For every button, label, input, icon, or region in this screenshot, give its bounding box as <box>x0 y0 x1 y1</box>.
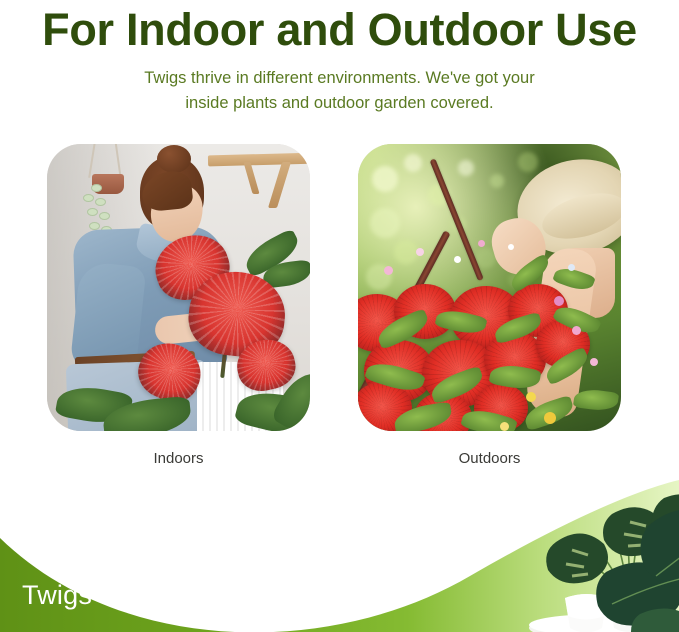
bokeh-highlight <box>404 154 422 172</box>
hair-bun <box>157 145 191 173</box>
garden-flower-dot <box>478 240 485 247</box>
garden-flower-dot <box>454 256 461 263</box>
product-feature-page: For Indoor and Outdoor Use Twigs thrive … <box>0 0 679 632</box>
bokeh-highlight <box>394 240 418 264</box>
card-outdoors[interactable]: Outdoors <box>358 144 621 431</box>
garden-flower-dot <box>572 326 581 335</box>
bokeh-highlight <box>458 160 474 176</box>
garden-flower-dot <box>416 248 424 256</box>
page-subtitle: Twigs thrive in different environments. … <box>125 66 555 116</box>
garden-flower-dot <box>384 266 393 275</box>
card-caption-indoors: Indoors <box>47 450 310 467</box>
bokeh-highlight <box>518 152 538 172</box>
garden-flower-dot <box>526 392 536 402</box>
garden-flower-dot <box>500 422 509 431</box>
star-icon: ✦ <box>54 575 63 586</box>
garden-flower-dot <box>590 358 598 366</box>
bokeh-highlight <box>370 208 400 238</box>
page-title: For Indoor and Outdoor Use <box>0 0 679 56</box>
bokeh-highlight <box>372 166 398 192</box>
header: For Indoor and Outdoor Use Twigs thrive … <box>0 0 679 116</box>
indoor-photo[interactable] <box>47 144 310 431</box>
outdoor-photo[interactable] <box>358 144 621 431</box>
garden-flower-dot <box>544 412 556 424</box>
card-indoors[interactable]: Indoors <box>47 144 310 431</box>
card-caption-outdoors: Outdoors <box>358 450 621 467</box>
banner-wave-shape <box>0 480 679 632</box>
brand-banner: ✦ Twigs <box>0 480 679 632</box>
bokeh-highlight <box>490 174 504 188</box>
garden-flower-dot <box>554 296 564 306</box>
feature-cards: Indoors Outdoors <box>0 144 679 444</box>
brand-logo[interactable]: ✦ Twigs <box>22 580 92 610</box>
garden-flower-dot <box>568 264 575 271</box>
garden-flower-dot <box>508 244 514 250</box>
